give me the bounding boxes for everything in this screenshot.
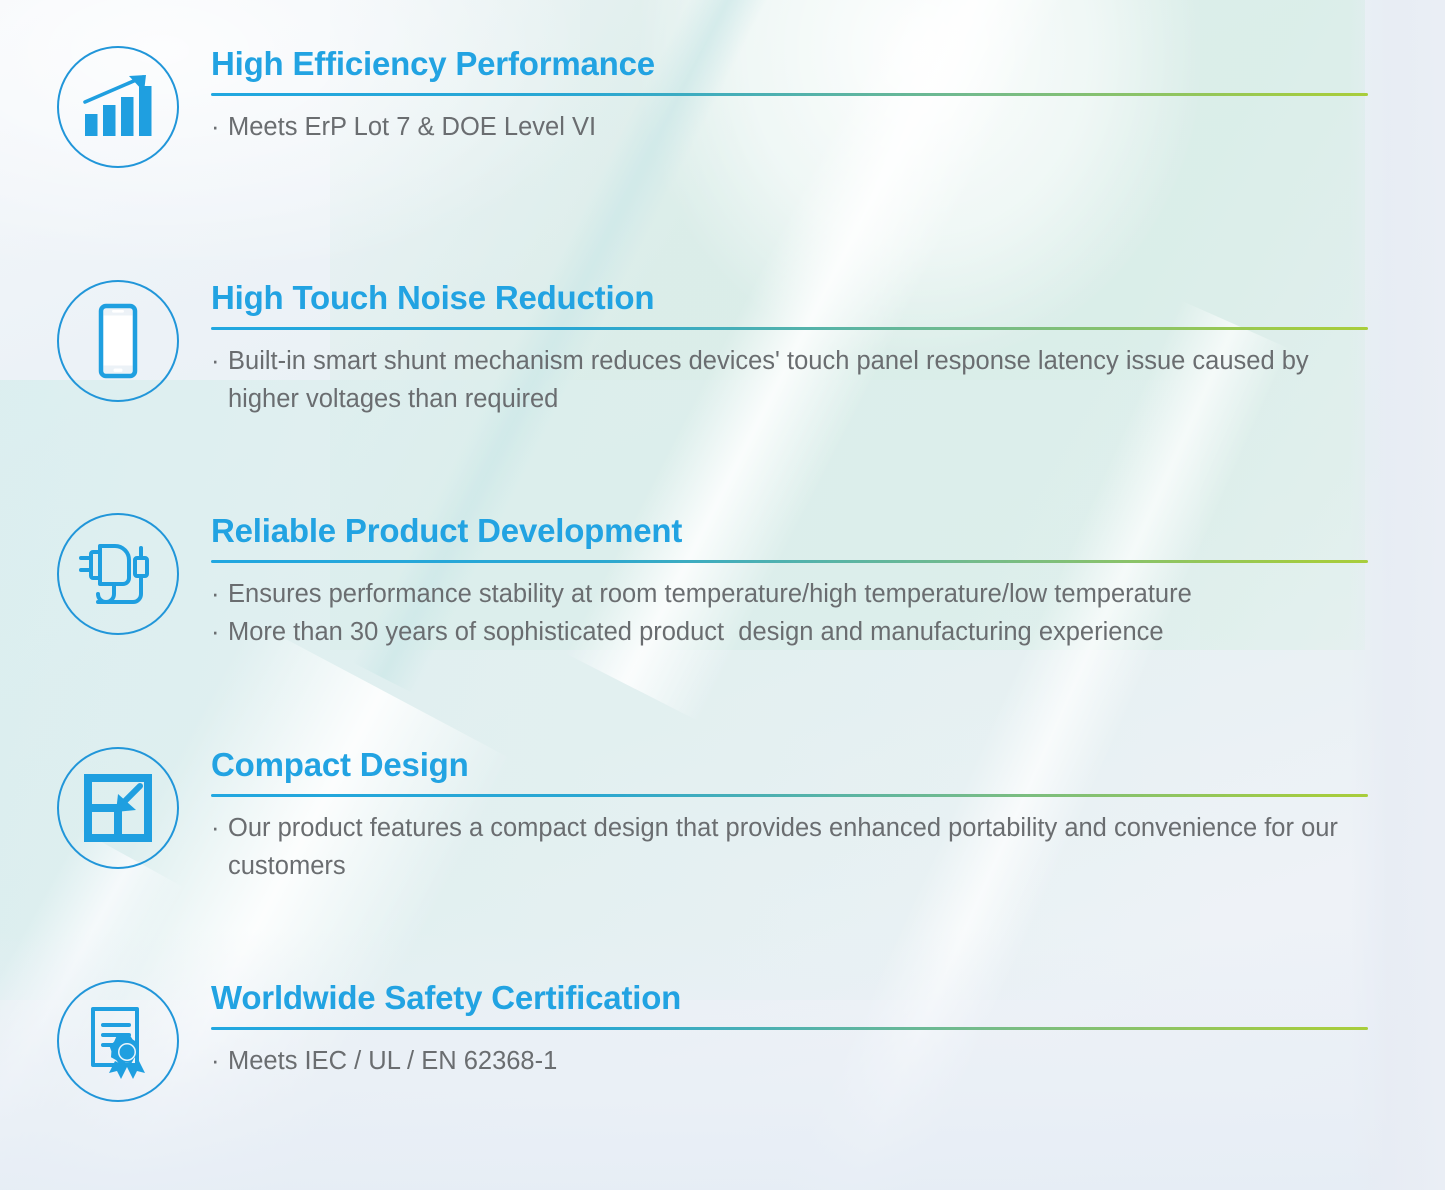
certificate-seal-icon (57, 980, 179, 1102)
feature-icon-wrap (55, 511, 181, 637)
bullet-item: · Built-in smart shunt mechanism reduces… (211, 342, 1368, 418)
feature-divider (211, 794, 1368, 797)
bullet-marker: · (211, 809, 228, 885)
feature-title: Reliable Product Development (211, 511, 1368, 551)
feature-content: Worldwide Safety Certification · Meets I… (211, 978, 1368, 1080)
bullet-text: Built-in smart shunt mechanism reduces d… (228, 342, 1368, 418)
bullet-item: · Our product features a compact design … (211, 809, 1368, 885)
feature-divider (211, 93, 1368, 96)
smartphone-icon (57, 280, 179, 402)
feature-content: Reliable Product Development · Ensures p… (211, 511, 1368, 651)
feature-content: Compact Design · Our product features a … (211, 745, 1368, 885)
feature-icon-wrap (55, 278, 181, 404)
bullet-item: · Meets ErP Lot 7 & DOE Level VI (211, 108, 1368, 146)
feature-content: High Touch Noise Reduction · Built-in sm… (211, 278, 1368, 418)
feature-title: High Efficiency Performance (211, 44, 1368, 84)
feature-icon-wrap (55, 44, 181, 170)
bullet-text: Meets IEC / UL / EN 62368-1 (228, 1042, 1368, 1080)
feature-bullets: · Our product features a compact design … (211, 809, 1368, 885)
feature-title: High Touch Noise Reduction (211, 278, 1368, 318)
feature-title: Worldwide Safety Certification (211, 978, 1368, 1018)
feature-icon-wrap (55, 978, 181, 1104)
feature-bullets: · Meets ErP Lot 7 & DOE Level VI (211, 108, 1368, 146)
feature-title: Compact Design (211, 745, 1368, 785)
feature-icon-wrap (55, 745, 181, 871)
compress-resize-icon (57, 747, 179, 869)
feature-bullets: · Ensures performance stability at room … (211, 575, 1368, 651)
bullet-marker: · (211, 342, 228, 418)
feature-content: High Efficiency Performance · Meets ErP … (211, 44, 1368, 146)
feature-divider (211, 1027, 1368, 1030)
bullet-marker: · (211, 613, 228, 651)
bullet-item: · Meets IEC / UL / EN 62368-1 (211, 1042, 1368, 1080)
feature-divider (211, 327, 1368, 330)
bullet-marker: · (211, 575, 228, 613)
feature-highlights-page: High Efficiency Performance · Meets ErP … (0, 0, 1445, 1190)
feature-bullets: · Built-in smart shunt mechanism reduces… (211, 342, 1368, 418)
power-adapter-icon (57, 513, 179, 635)
bar-chart-growth-icon (57, 46, 179, 168)
bullet-text: Ensures performance stability at room te… (228, 575, 1368, 613)
bullet-marker: · (211, 108, 228, 146)
bullet-item: · More than 30 years of sophisticated pr… (211, 613, 1368, 651)
feature-divider (211, 560, 1368, 563)
bullet-item: · Ensures performance stability at room … (211, 575, 1368, 613)
bullet-text: Our product features a compact design th… (228, 809, 1368, 885)
bullet-marker: · (211, 1042, 228, 1080)
feature-list: High Efficiency Performance · Meets ErP … (0, 0, 1445, 1190)
feature-bullets: · Meets IEC / UL / EN 62368-1 (211, 1042, 1368, 1080)
bullet-text: More than 30 years of sophisticated prod… (228, 613, 1368, 651)
bullet-text: Meets ErP Lot 7 & DOE Level VI (228, 108, 1368, 146)
